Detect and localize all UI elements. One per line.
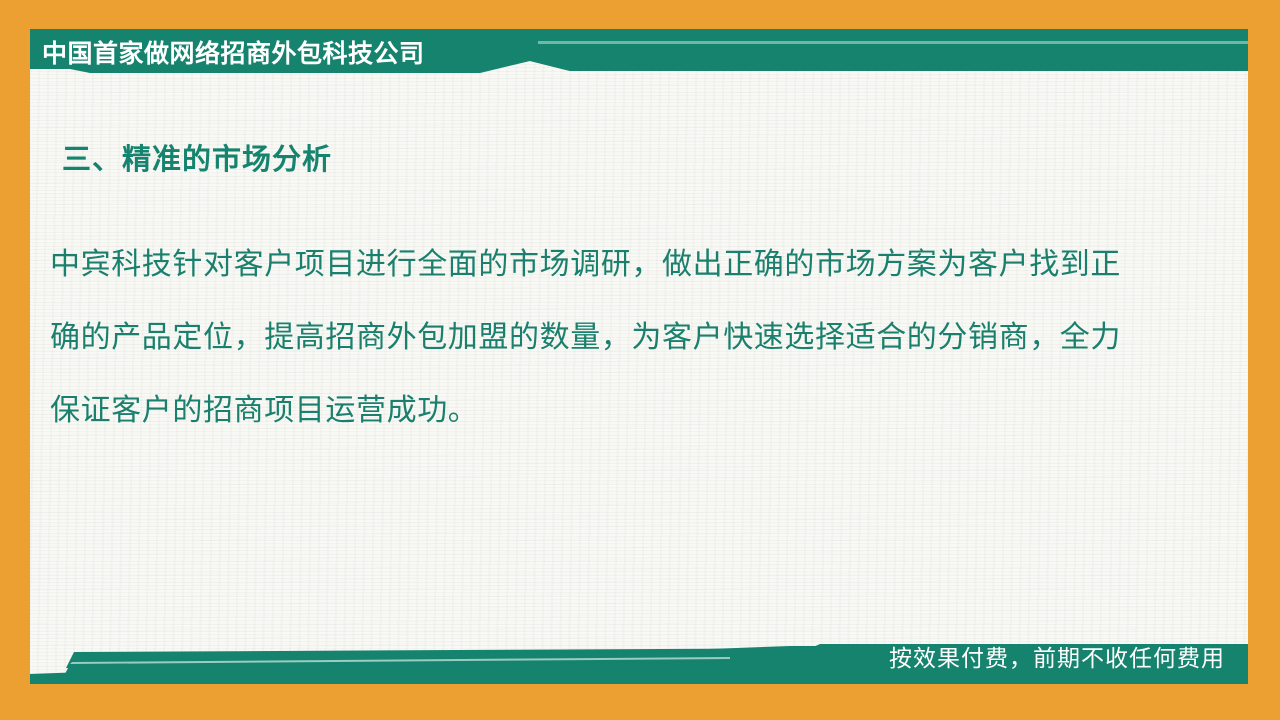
header-accent-rule xyxy=(538,41,1248,44)
frame-top-border xyxy=(0,0,1280,29)
body-paragraph-line: 保证客户的招商项目运营成功。 xyxy=(50,374,1185,447)
header-title: 中国首家做网络招商外包科技公司 xyxy=(42,37,562,71)
frame-bottom-border xyxy=(0,684,1280,720)
frame-left-border xyxy=(0,0,30,720)
section-heading: 三、精准的市场分析 xyxy=(62,136,332,178)
body-paragraph-line: 确的产品定位，提高招商外包加盟的数量，为客户快速选择适合的分销商，全力 xyxy=(50,301,1185,374)
slide-canvas: 中国首家做网络招商外包科技公司 三、精准的市场分析 中宾科技针对客户项目进行全面… xyxy=(0,0,1280,720)
header-lower-strip xyxy=(530,61,1248,71)
body-paragraph: 中宾科技针对客户项目进行全面的市场调研，做出正确的市场方案为客户找到正 确的产品… xyxy=(50,228,1185,447)
body-paragraph-line: 中宾科技针对客户项目进行全面的市场调研，做出正确的市场方案为客户找到正 xyxy=(50,228,1185,301)
frame-right-border xyxy=(1248,0,1280,720)
footer-tagline: 按效果付费，前期不收任何费用 xyxy=(889,639,1225,673)
